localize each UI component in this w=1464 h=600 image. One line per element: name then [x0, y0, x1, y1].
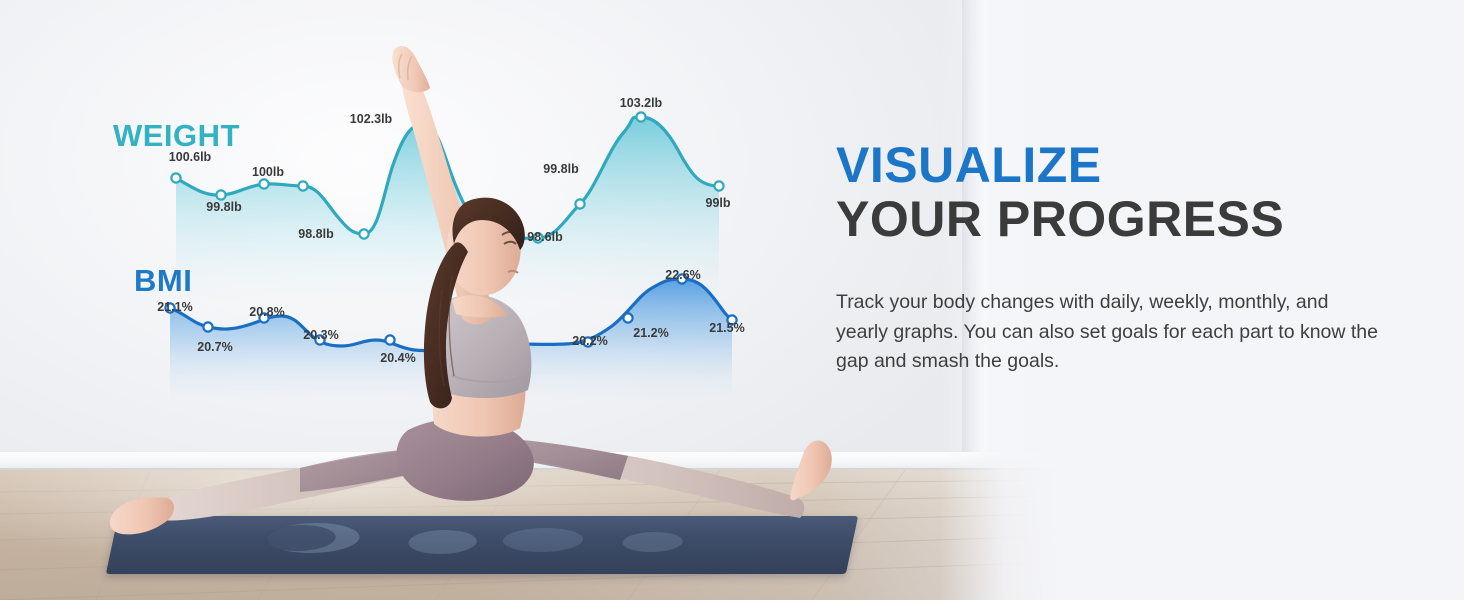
body-copy: Track your body changes with daily, week… — [836, 288, 1382, 377]
woman-front-foot — [790, 440, 832, 500]
woman-shoulder — [452, 295, 508, 317]
marketing-banner: WEIGHT BMI 100.6lb 99.8lb 100lb 98.8lb 1… — [0, 0, 1464, 600]
text-panel: VISUALIZE YOUR PROGRESS Track your body … — [1000, 0, 1464, 600]
headline-line-2: YOUR PROGRESS — [836, 191, 1456, 247]
headline-line-1: VISUALIZE — [836, 140, 1456, 191]
woman-back-foot — [110, 497, 174, 534]
headline-block: VISUALIZE YOUR PROGRESS — [836, 140, 1456, 247]
